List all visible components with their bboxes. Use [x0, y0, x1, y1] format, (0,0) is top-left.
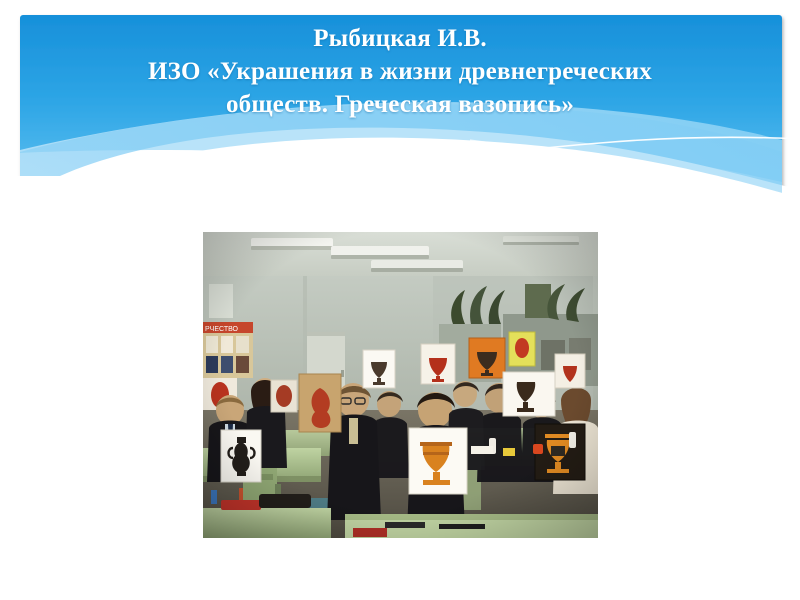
classroom-photo: РЧЕСТВО [203, 232, 598, 538]
banner-decoration-graphic [0, 0, 800, 215]
classroom-photo-graphic: РЧЕСТВО [203, 232, 598, 538]
slide-canvas: Рыбицкая И.В. ИЗО «Украшения в жизни дре… [0, 0, 800, 600]
title-banner [0, 0, 800, 215]
